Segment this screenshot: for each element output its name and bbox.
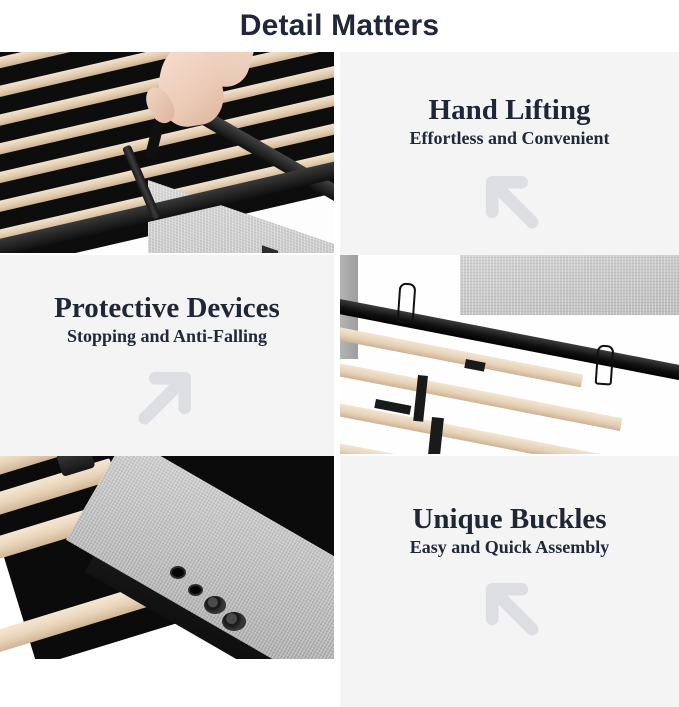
arrow-up-left-icon <box>473 570 547 644</box>
panel-hand-lifting-photo <box>0 52 334 253</box>
wire-safety-hook <box>397 282 417 323</box>
panel-unique-buckles-photo <box>0 456 334 659</box>
panel-subtitle-hand-lifting: Effortless and Convenient <box>409 129 609 149</box>
buckle-bolt <box>204 596 226 614</box>
panel-unique-buckles-text: Unique Buckles Easy and Quick Assembly <box>340 456 679 707</box>
panel-protective-devices-photo <box>340 255 679 454</box>
unique-buckles-photo <box>0 456 334 659</box>
arrow-up-right-icon <box>130 359 204 433</box>
page-title: Detail Matters <box>240 11 440 41</box>
hand-lifting-photo <box>0 52 334 253</box>
infographic-header: Detail Matters <box>0 0 679 52</box>
mounting-hole <box>172 568 184 577</box>
detail-matters-infographic: Detail Matters <box>0 0 679 659</box>
wire-safety-hook <box>595 344 615 385</box>
feature-grid: Hand Lifting Effortless and Convenient P… <box>0 52 679 659</box>
protective-devices-photo <box>340 255 679 454</box>
mounting-hole <box>190 586 201 594</box>
panel-title-unique-buckles: Unique Buckles <box>412 504 606 534</box>
panel-title-hand-lifting: Hand Lifting <box>429 95 591 125</box>
upholstered-headboard <box>460 255 679 315</box>
panel-subtitle-protective-devices: Stopping and Anti-Falling <box>67 327 267 347</box>
buckle-bolt <box>222 612 246 631</box>
arrow-up-left-icon <box>473 163 547 237</box>
panel-subtitle-unique-buckles: Easy and Quick Assembly <box>410 538 610 558</box>
panel-title-protective-devices: Protective Devices <box>54 293 280 323</box>
